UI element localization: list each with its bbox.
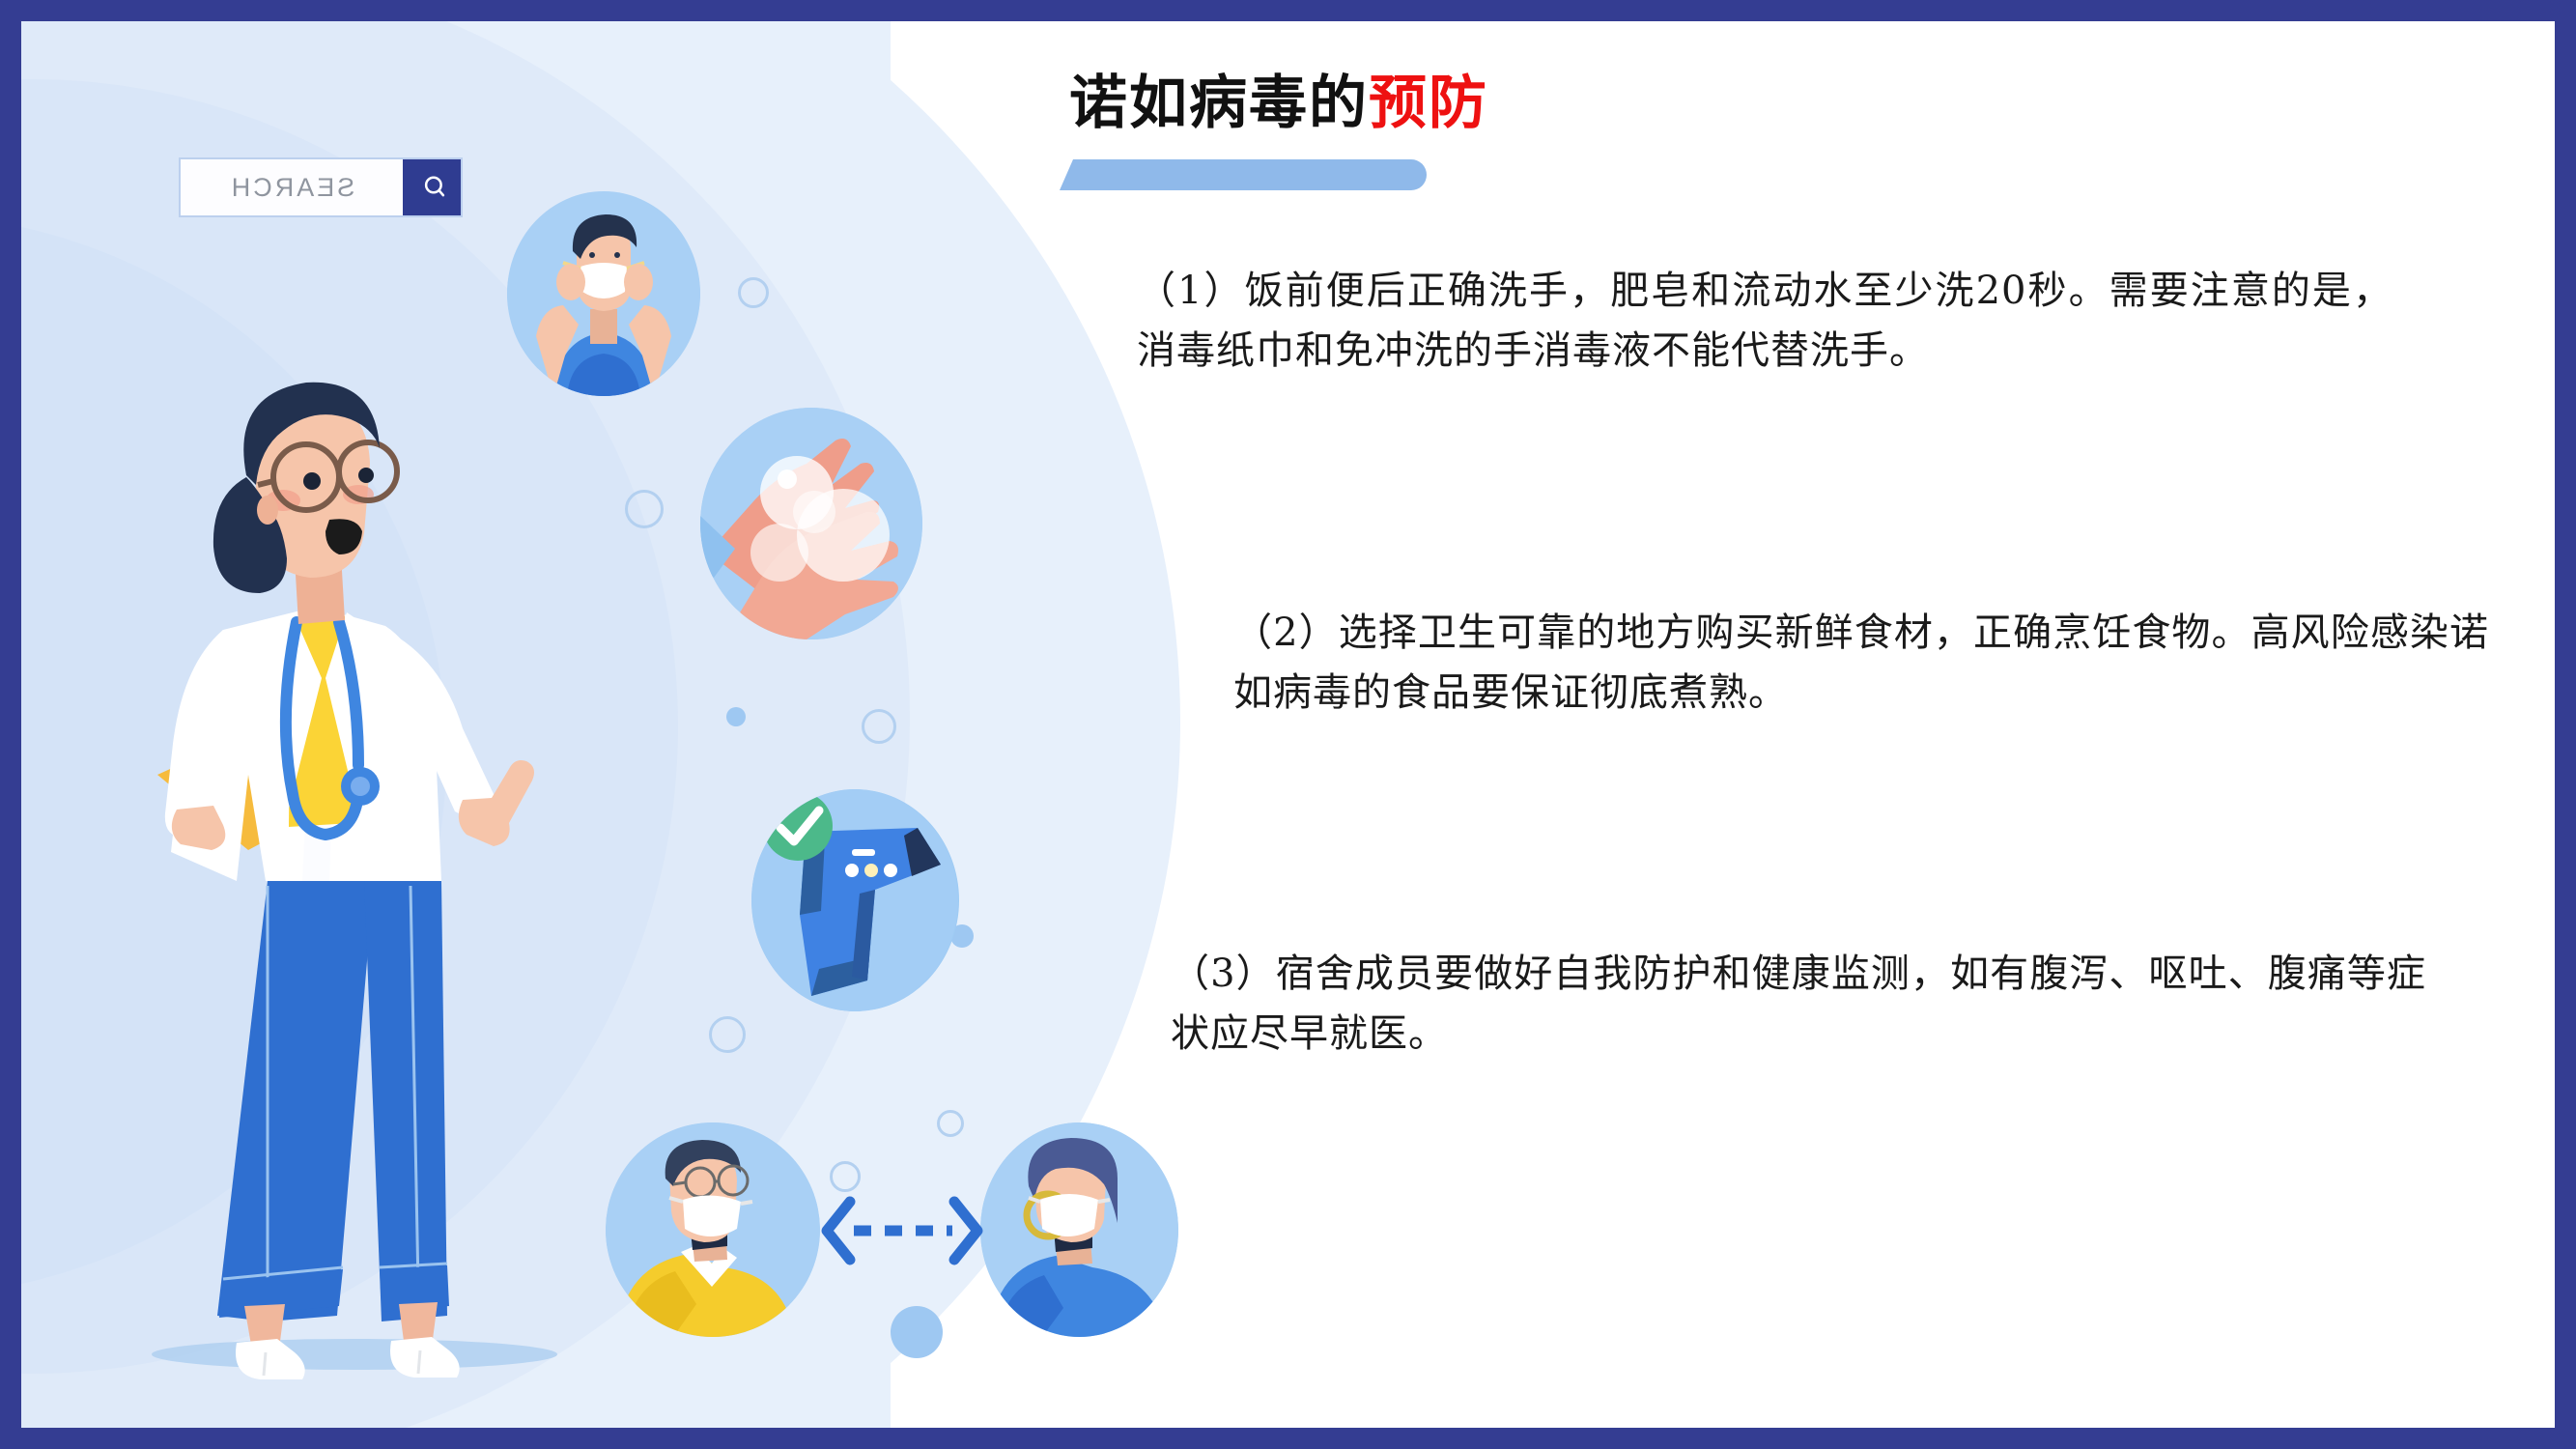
- bubble-filled: [891, 1306, 943, 1358]
- bubble-outline: [709, 1016, 746, 1053]
- body-paragraph-2: （2）选择卫生可靠的地方购买新鲜食材，正确烹饪食物。高风险感染诺如病毒的食品要保…: [1233, 603, 2489, 723]
- body-paragraph-3: （3）宿舍成员要做好自我防护和健康监测，如有腹泻、呕吐、腹痛等症状应尽早就医。: [1171, 944, 2426, 1064]
- page-title-plain: 诺如病毒的: [1069, 70, 1369, 137]
- body-paragraph-1: （1）饭前便后正确洗手，肥皂和流动水至少洗20秒。需要注意的是，消毒纸巾和免冲洗…: [1137, 261, 2392, 381]
- social-distance-arrow-icon: [821, 1192, 983, 1269]
- illustration-panel: SEARCH: [21, 21, 1180, 1428]
- slide-frame: SEARCH: [0, 0, 2576, 1449]
- bubble-outline: [738, 277, 769, 308]
- slide-page: SEARCH: [21, 21, 2555, 1428]
- search-input[interactable]: SEARCH: [181, 159, 403, 215]
- search-widget[interactable]: SEARCH: [179, 157, 463, 217]
- search-icon: [417, 173, 446, 202]
- bubble-outline: [937, 1110, 964, 1137]
- avatar-masked-man-yellow: [606, 1122, 820, 1337]
- page-title-wrapper: 诺如病毒的预防: [1069, 74, 1488, 132]
- search-placeholder: SEARCH: [229, 173, 355, 203]
- title-underline-bar: [1060, 159, 1427, 190]
- search-button[interactable]: [403, 159, 461, 215]
- avatar-thermometer-gun: [751, 789, 959, 1011]
- avatar-masked-woman-blue: [980, 1122, 1178, 1337]
- avatar-hand-washing: [700, 408, 922, 639]
- bubble-outline: [830, 1161, 861, 1192]
- bubble-filled: [726, 707, 746, 726]
- page-title-highlight: 预防: [1369, 70, 1488, 137]
- content-panel: 诺如病毒的预防 （1）饭前便后正确洗手，肥皂和流动水至少洗20秒。需要注意的是，…: [1180, 21, 2555, 1428]
- bubble-outline: [862, 709, 896, 744]
- page-title: 诺如病毒的预防: [1069, 74, 1488, 132]
- doctor-figure: [123, 340, 567, 1393]
- bubble-outline: [625, 490, 664, 528]
